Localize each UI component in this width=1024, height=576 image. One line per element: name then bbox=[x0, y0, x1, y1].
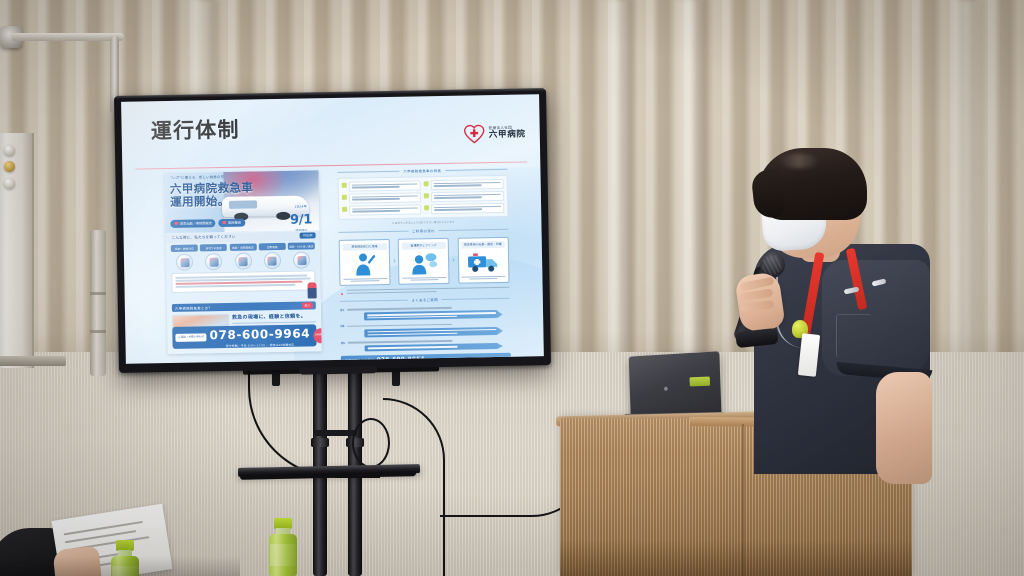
bottle-label bbox=[270, 544, 296, 566]
hospital-transfer-icon bbox=[234, 252, 251, 269]
poster-subheading-text: こんな時に、私たちを頼ってください bbox=[172, 234, 236, 240]
faq-answer bbox=[364, 327, 499, 337]
phone-number: 078-600-9964 bbox=[209, 326, 310, 342]
checklist-item bbox=[342, 180, 421, 191]
check-marker bbox=[342, 207, 347, 212]
home-emergency-icon bbox=[205, 253, 222, 270]
service-pill-label: 救急出動／病院間搬送 bbox=[180, 220, 212, 226]
flow-card-title: 看護師がヒアリング bbox=[402, 241, 446, 249]
presentation-display[interactable]: 運行体制 医療法人社団 六甲病院 bbox=[114, 88, 551, 373]
right-panel: 六甲病院救急車の特長 bbox=[338, 167, 511, 351]
flow-card-title: 救急車両の出動・搬送・到着 bbox=[461, 240, 505, 248]
feature-checklist bbox=[338, 175, 508, 220]
whiteboard-post bbox=[90, 230, 106, 376]
whiteboard-knob[interactable] bbox=[4, 161, 15, 172]
attention-text bbox=[347, 287, 509, 295]
checklist-item bbox=[424, 179, 503, 190]
poster-note-box bbox=[171, 271, 315, 293]
poster-usecase-row: 急病・救急対応 自宅での急変 施設・病院間搬送 定期通院 bbox=[171, 243, 315, 271]
checklist-text bbox=[349, 204, 421, 215]
slide-title: 運行体制 bbox=[151, 114, 240, 146]
green-tea-bottle bbox=[268, 518, 298, 576]
checklist-note: ※ 症状やご状況により対応できない場合がございます bbox=[339, 219, 508, 226]
note-text-line bbox=[176, 284, 296, 288]
phone-hours: 受付時間／平日 9:00〜17:00 ／ 救急は24時間対応 bbox=[210, 343, 311, 349]
poster-staff-illustration bbox=[307, 282, 316, 298]
heart-cross-icon bbox=[464, 124, 485, 143]
ambulance-icon bbox=[467, 249, 499, 274]
hospital-logo: 医療法人社団 六甲病院 bbox=[464, 123, 526, 143]
usecase-label: 自宅での急変 bbox=[200, 244, 227, 251]
flow-cards: 救急相談窓口に連絡 bbox=[339, 237, 509, 286]
poster-banner-text: 六甲病院救急車とは？ bbox=[175, 305, 212, 311]
poster-banner-tag: 紹介 bbox=[302, 303, 313, 309]
flow-card: 救急車両の出動・搬送・到着 bbox=[457, 237, 509, 284]
laptop[interactable] bbox=[629, 351, 722, 417]
bullet-dot bbox=[223, 221, 226, 224]
faq-list: Q1. Q2. bbox=[340, 305, 510, 352]
poster-service-pills: 救急出動／病院間搬送 転院搬送 bbox=[170, 218, 245, 228]
date-year: 2024年 bbox=[290, 204, 312, 209]
hair-highlight bbox=[778, 154, 820, 168]
flow-card-note bbox=[343, 278, 387, 283]
faq-answer bbox=[364, 310, 499, 320]
faq-item: Q2. bbox=[340, 321, 509, 338]
whiteboard-knob[interactable] bbox=[4, 145, 15, 156]
faq-question-number: Q1. bbox=[340, 308, 345, 312]
bullet-dot bbox=[175, 222, 178, 225]
usecase-card: 急病・救急対応 bbox=[171, 245, 198, 271]
usecase-label: 定期通院 bbox=[259, 243, 286, 250]
flow-card-note bbox=[462, 275, 506, 280]
faq-question-number: Q2. bbox=[340, 324, 345, 328]
tv-mount-foot bbox=[299, 366, 377, 374]
date-number: 9/1 bbox=[290, 213, 312, 228]
attention-note: ▲ bbox=[340, 287, 509, 296]
discharge-escort-icon bbox=[293, 251, 310, 268]
faq-question-text bbox=[347, 340, 452, 343]
checklist-text bbox=[431, 191, 503, 202]
slide-canvas: 運行体制 医療法人社団 六甲病院 bbox=[121, 94, 544, 364]
poster-subheading-bar: こんな時に、私たちを頼ってください 対応例 bbox=[165, 231, 320, 243]
usecase-card: 施設・病院間搬送 bbox=[229, 244, 256, 270]
checklist-text bbox=[431, 179, 503, 190]
left-poster: "いざ"に備える、新しい救急の形 六甲病院救急車 運用開始。 2024年 9/1… bbox=[164, 170, 322, 354]
usecase-label: 施設・病院間搬送 bbox=[229, 244, 256, 251]
patient-care-icon bbox=[176, 254, 193, 271]
laptop-sticker bbox=[690, 376, 711, 386]
presenter-forearm bbox=[876, 372, 932, 484]
checklist-text bbox=[349, 192, 421, 203]
tv-screen: 運行体制 医療法人社団 六甲病院 bbox=[121, 94, 544, 364]
usecase-card: 自宅での急変 bbox=[200, 244, 227, 270]
flow-card: 看護師がヒアリング bbox=[398, 238, 450, 285]
whiteboard-arm-horizontal bbox=[12, 33, 124, 41]
conference-room-scene: 運行体制 医療法人社団 六甲病院 bbox=[0, 0, 1024, 576]
contact-badge: ご相談・お問い合わせ bbox=[176, 334, 207, 342]
whiteboard-knob[interactable] bbox=[4, 178, 15, 189]
flow-card: 救急相談窓口に連絡 bbox=[339, 239, 391, 286]
service-pill: 救急出動／病院間搬送 bbox=[170, 219, 215, 228]
warning-icon: ▲ bbox=[340, 291, 344, 296]
faq-question-text bbox=[347, 324, 452, 327]
section-title-flow: ご利用の流れ bbox=[339, 227, 508, 235]
checklist-text bbox=[431, 203, 503, 214]
poster-hero: "いざ"に備える、新しい救急の形 六甲病院救急車 運用開始。 2024年 9/1… bbox=[164, 170, 320, 232]
section-title-features: 六甲病院救急車の特長 bbox=[338, 167, 507, 175]
usecase-card: 定期通院 bbox=[259, 243, 286, 269]
regular-visit-icon bbox=[264, 252, 281, 269]
person-calling-icon bbox=[352, 252, 378, 276]
feature-heading: 救急の現場に、経験と信頼を。 bbox=[232, 312, 316, 321]
checklist-item bbox=[342, 192, 421, 203]
check-marker bbox=[424, 193, 429, 198]
checklist-item bbox=[424, 191, 503, 202]
check-marker bbox=[342, 183, 347, 188]
chest-pocket bbox=[836, 314, 871, 357]
checklist-item bbox=[424, 203, 503, 214]
checklist-item bbox=[342, 204, 421, 215]
availability-seal: 24時間受付 bbox=[313, 328, 322, 343]
check-marker bbox=[342, 195, 347, 200]
check-marker bbox=[424, 181, 429, 186]
check-marker bbox=[424, 205, 429, 210]
service-pill-label: 転院搬送 bbox=[228, 220, 241, 225]
checklist-text bbox=[349, 180, 421, 191]
poster-subheading-tag: 対応例 bbox=[300, 232, 316, 238]
faq-item: Q1. bbox=[340, 305, 509, 322]
contact-number-block: 078-600-9964 受付時間／平日 9:00〜17:00 ／ 救急は24時… bbox=[209, 324, 310, 348]
person-consult-icon bbox=[410, 251, 438, 276]
chevron-right-icon: › bbox=[452, 257, 454, 264]
whiteboard-marker-tray bbox=[0, 356, 66, 366]
poster-banner: 六甲病院救急車とは？ 紹介 bbox=[172, 301, 316, 312]
logo-hospital-name: 六甲病院 bbox=[489, 130, 526, 139]
poster-contact-bar: ご相談・お問い合わせ 078-600-9964 受付時間／平日 9:00〜17:… bbox=[172, 324, 316, 349]
launch-date-badge: 2024年 9/1 運用開始 bbox=[290, 204, 312, 233]
chevron-right-icon: › bbox=[393, 258, 395, 265]
usecase-label: 急病・救急対応 bbox=[171, 245, 198, 252]
whiteboard-post-joint bbox=[90, 330, 106, 333]
section-title-faq: よくあるご質問 bbox=[340, 296, 509, 304]
faq-question-number: Q3. bbox=[341, 341, 346, 345]
foreground-shadow bbox=[0, 556, 240, 576]
service-pill: 転院搬送 bbox=[219, 218, 245, 227]
usecase-card: 退院・付き添い搬送 bbox=[288, 243, 315, 269]
flow-card-note bbox=[402, 276, 446, 281]
faq-question-text bbox=[347, 307, 452, 310]
laptop-logo-icon bbox=[661, 384, 670, 393]
presenter bbox=[716, 148, 932, 448]
whiteboard-post-joint bbox=[90, 292, 106, 295]
stand-hook bbox=[392, 370, 400, 386]
poster-headline-line2: 運用開始。 bbox=[170, 195, 230, 209]
poster-lead: "いざ"に備える、新しい救急の形 bbox=[170, 174, 224, 180]
lectern-shadow bbox=[560, 540, 912, 576]
flow-card-title: 救急相談窓口に連絡 bbox=[343, 243, 387, 251]
usecase-label: 退院・付き添い搬送 bbox=[288, 243, 315, 250]
